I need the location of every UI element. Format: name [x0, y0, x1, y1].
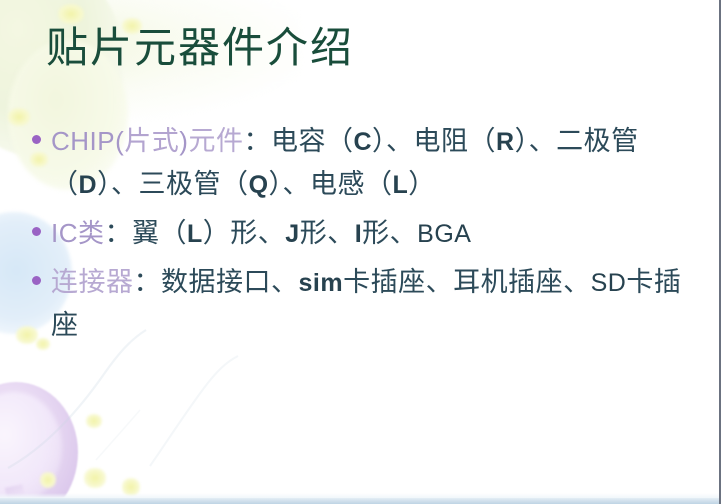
shape-bga: BGA — [417, 220, 471, 248]
ic-separator: ： — [105, 218, 133, 248]
code-l: L — [393, 171, 409, 199]
ic-rest-mid3: 形、 — [362, 218, 417, 248]
chip-separator: ： — [243, 126, 271, 156]
chip-rest-1: 电容（ — [271, 126, 354, 156]
connector-label: 连接器 — [51, 267, 134, 297]
code-c: C — [353, 128, 372, 156]
connector-separator: ： — [134, 267, 162, 297]
chip-label-latin: CHIP( — [51, 126, 124, 156]
code-q: Q — [249, 171, 269, 199]
code-r: R — [496, 128, 515, 156]
slide-body: CHIP(片式)元件：电容（C）、电阻（R）、二极管（D）、三极管（Q）、电感（… — [32, 120, 704, 352]
chip-line2-end: ） — [408, 169, 436, 199]
sparkle-icon — [86, 414, 102, 428]
list-item-text: 连接器：数据接口、sim卡插座、耳机插座、SD卡插座 — [51, 261, 704, 346]
chip-label-cjk: 片式 — [124, 126, 179, 156]
connector-rest-mid: 卡插座、耳机插座、 — [343, 267, 591, 297]
shape-j: J — [285, 220, 299, 248]
chip-rest-2: ）、电阻（ — [372, 126, 496, 156]
chip-label-tail: 元件 — [188, 126, 243, 156]
lavender-balloon-icon — [0, 382, 78, 504]
presentation-slide: 贴片元器件介绍 CHIP(片式)元件：电容（C）、电阻（R）、二极管（D）、三极… — [0, 0, 721, 504]
sparkle-icon — [8, 108, 30, 126]
round-bullet-icon — [32, 227, 41, 236]
code-d: D — [79, 171, 98, 199]
list-item[interactable]: IC类：翼（L）形、J形、I形、BGA — [32, 212, 704, 255]
ic-rest-pre: 翼（ — [132, 218, 187, 248]
ic-rest-mid2: 形、 — [300, 218, 355, 248]
round-bullet-icon — [32, 135, 41, 144]
list-item[interactable]: 连接器：数据接口、sim卡插座、耳机插座、SD卡插座 — [32, 261, 704, 346]
chip-rest-3: ）、 — [515, 126, 557, 156]
list-item[interactable]: CHIP(片式)元件：电容（C）、电阻（R）、二极管（D）、三极管（Q）、电感（… — [32, 120, 704, 206]
ic-rest-mid: ）形、 — [203, 218, 286, 248]
chip-line2-mid: ）、三极管（ — [97, 169, 249, 199]
shape-l: L — [187, 220, 203, 248]
chip-line2-mid2: ）、电感（ — [269, 169, 393, 199]
sparkle-icon — [40, 472, 56, 488]
connector-sim: sim — [299, 269, 344, 297]
sparkle-icon — [58, 4, 84, 24]
page-title: 贴片元器件介绍 — [46, 26, 354, 73]
ic-label: IC类 — [51, 218, 105, 248]
sparkle-icon — [84, 468, 106, 488]
connector-sd: SD — [591, 269, 627, 297]
connector-rest-pre: 数据接口、 — [161, 267, 299, 297]
round-bullet-icon — [32, 276, 41, 285]
bottom-band — [0, 498, 719, 504]
list-item-text: CHIP(片式)元件：电容（C）、电阻（R）、二极管（D）、三极管（Q）、电感（… — [51, 120, 704, 206]
list-item-text: IC类：翼（L）形、J形、I形、BGA — [51, 212, 704, 255]
lavender-balloon-highlight-icon — [0, 392, 62, 504]
